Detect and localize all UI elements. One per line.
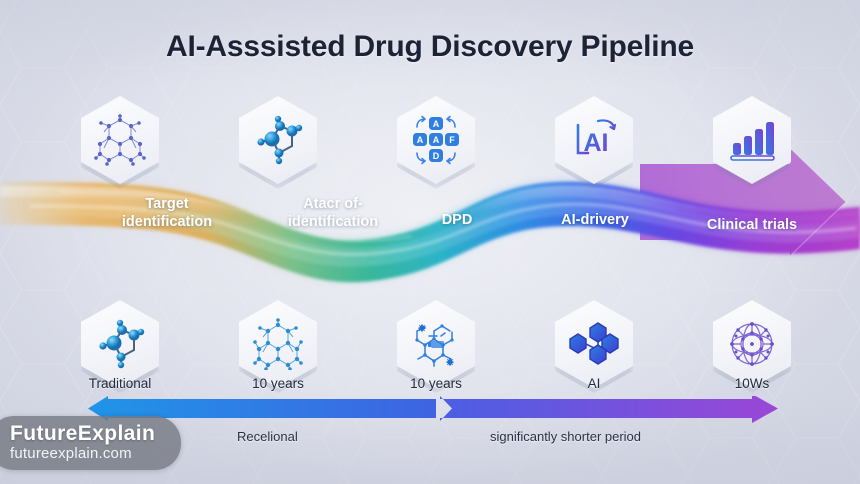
- icon-caption-10ws: 10Ws: [682, 376, 822, 391]
- watermark-brand: FutureExplain: [10, 423, 155, 445]
- molecule-circuit-icon: [411, 319, 461, 369]
- icon-caption-10-years-2: 10 years: [366, 376, 506, 391]
- watermark-url: futureexplain.com: [10, 445, 155, 462]
- molecule-ball-stick-icon: [252, 115, 304, 165]
- svg-text:A: A: [433, 135, 440, 145]
- timeline-caption-right: significantly shorter period: [490, 429, 641, 444]
- watermark-badge: FutureExplain futureexplain.com: [0, 416, 181, 470]
- molecule-ball-stick-icon: [94, 319, 146, 369]
- svg-text:F: F: [449, 135, 455, 145]
- hexagon-cluster-icon: [568, 321, 620, 367]
- svg-text:A: A: [417, 135, 424, 145]
- page-title: AI-Asssisted Drug Discovery Pipeline: [0, 30, 860, 64]
- amino-acid-grid-icon: AAA FD: [411, 115, 461, 165]
- fullerene-sphere-icon: [727, 319, 777, 369]
- icon-caption-traditional: Traditional: [50, 376, 190, 391]
- svg-text:A: A: [433, 119, 440, 129]
- infographic-canvas: AI-Asssisted Drug Discovery Pipeline: [0, 0, 860, 484]
- svg-text:AI: AI: [584, 129, 609, 157]
- timeline-caption-left: Recelional: [237, 429, 298, 444]
- icon-caption-10-years-1: 10 years: [208, 376, 348, 391]
- icon-caption-ai: AI: [524, 376, 664, 391]
- molecule-network-icon: [94, 114, 146, 166]
- svg-text:D: D: [433, 151, 440, 161]
- ai-text-icon: AI: [568, 117, 620, 163]
- bar-chart-icon: [728, 117, 776, 163]
- molecule-mesh-icon: [252, 318, 304, 370]
